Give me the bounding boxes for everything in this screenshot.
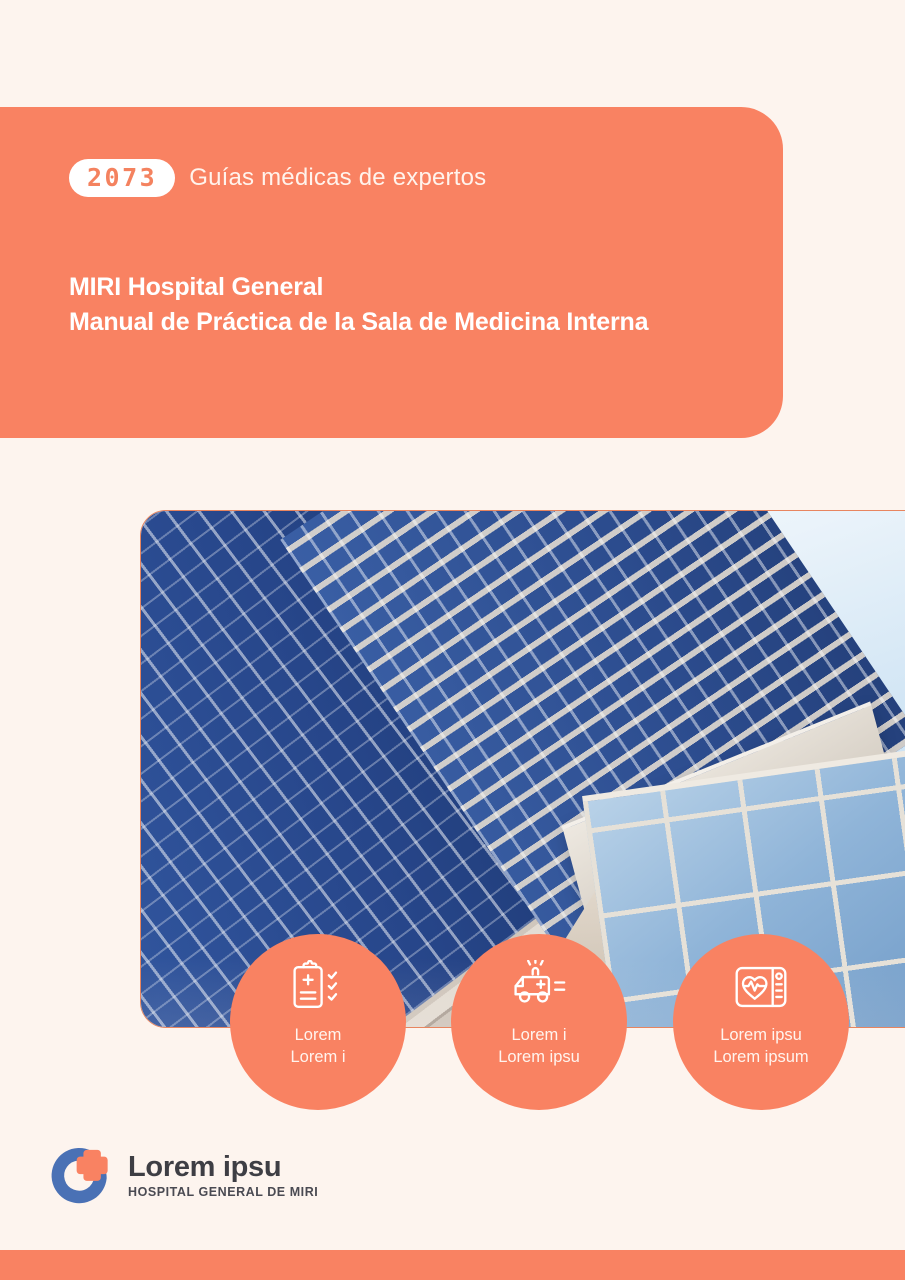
page-title: MIRI Hospital General Manual de Práctica…: [69, 270, 648, 340]
clipboard-checklist-medical-icon: [289, 960, 347, 1014]
hero-banner: 2073 Guías médicas de expertos MIRI Hosp…: [0, 107, 783, 438]
page-title-line-2: Manual de Práctica de la Sala de Medicin…: [69, 305, 648, 340]
c-ring-with-medical-cross-icon: [50, 1145, 112, 1207]
footer-accent-bar: [0, 1250, 905, 1280]
year-badge: 2073: [69, 159, 175, 197]
brand-name: Lorem ipsu: [128, 1151, 318, 1183]
feature-circle-3[interactable]: Lorem ipsu Lorem ipsum: [673, 934, 849, 1110]
ambulance-icon: [510, 960, 568, 1014]
feature-caption-1-line-2: Lorem i: [290, 1046, 345, 1068]
hero-eyebrow-row: 2073 Guías médicas de expertos: [69, 159, 486, 197]
feature-circle-group: Lorem Lorem i Lorem i Lorem ipsu: [0, 934, 905, 1114]
feature-caption-3: Lorem ipsu Lorem ipsum: [713, 1024, 808, 1068]
feature-caption-3-line-2: Lorem ipsum: [713, 1046, 808, 1068]
hero-content: 2073 Guías médicas de expertos MIRI Hosp…: [69, 107, 783, 438]
feature-caption-1-line-1: Lorem: [290, 1024, 345, 1046]
page-title-line-1: MIRI Hospital General: [69, 270, 648, 305]
brand-text: Lorem ipsu HOSPITAL GENERAL DE MIRI: [128, 1151, 318, 1201]
feature-circle-1[interactable]: Lorem Lorem i: [230, 934, 406, 1110]
feature-caption-3-line-1: Lorem ipsu: [713, 1024, 808, 1046]
brand-subtitle: HOSPITAL GENERAL DE MIRI: [128, 1184, 318, 1201]
brand-logo: Lorem ipsu HOSPITAL GENERAL DE MIRI: [50, 1145, 318, 1207]
feature-caption-2-line-2: Lorem ipsu: [498, 1046, 580, 1068]
feature-circle-2[interactable]: Lorem i Lorem ipsu: [451, 934, 627, 1110]
cover-page: 2073 Guías médicas de expertos MIRI Hosp…: [0, 0, 905, 1280]
feature-caption-2-line-1: Lorem i: [498, 1024, 580, 1046]
feature-caption-2: Lorem i Lorem ipsu: [498, 1024, 580, 1068]
hero-eyebrow-text: Guías médicas de expertos: [189, 164, 486, 192]
feature-caption-1: Lorem Lorem i: [290, 1024, 345, 1068]
heart-monitor-icon: [732, 960, 790, 1014]
